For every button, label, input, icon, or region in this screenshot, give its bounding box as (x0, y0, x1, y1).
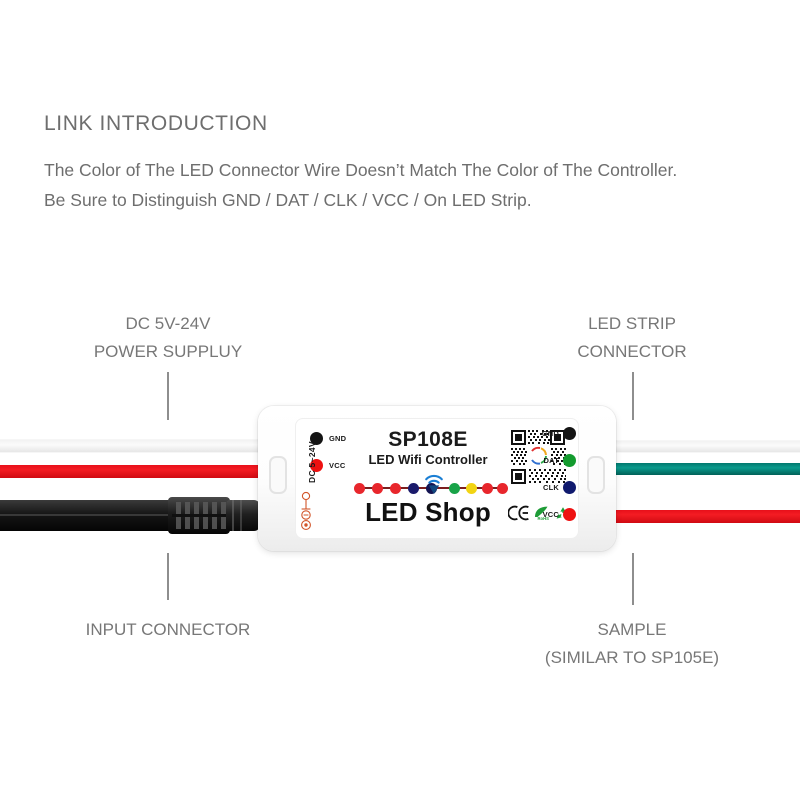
leader-line-led-strip-connector (632, 372, 634, 420)
led-dot-3 (390, 483, 401, 494)
dc-barrel-connector-icon (226, 500, 260, 531)
pad-label-gnd-input: GND (329, 434, 346, 443)
callout-input-connector: INPUT CONNECTOR (42, 616, 294, 644)
dc-grip-ridges (172, 502, 226, 529)
led-dot-2 (372, 483, 383, 494)
callout-led-strip-line-2: CONNECTOR (530, 338, 734, 366)
led-dot-strip-graphic (354, 481, 506, 495)
controller-model-name: SP108E (354, 428, 502, 452)
case-slot-right (587, 456, 605, 494)
led-dot-1 (354, 483, 365, 494)
callout-input-connector-line-1: INPUT CONNECTOR (42, 616, 294, 644)
intro-line-1: The Color of The LED Connector Wire Does… (44, 155, 774, 185)
input-white-wire (0, 440, 284, 452)
controller-label-panel: GND VCC DC 5~24V SP108E LED Wifi (296, 419, 578, 538)
pad-label-clk-output: CLK (543, 483, 559, 492)
output-terminal-group: GND DAT CLK VCC (536, 427, 576, 531)
led-dot-4 (408, 483, 419, 494)
brand-name: LED Shop (348, 497, 508, 528)
led-dot-8 (482, 483, 493, 494)
output-teal-wire (606, 463, 800, 475)
leader-line-input-connector (167, 553, 169, 600)
led-dot-6 (449, 483, 460, 494)
intro-paragraph: The Color of The LED Connector Wire Does… (44, 155, 774, 215)
led-dot-7 (466, 483, 477, 494)
led-dot-9 (497, 483, 508, 494)
callout-sample-line-1: SAMPLE (506, 616, 758, 644)
callout-led-strip-line-1: LED STRIP (530, 310, 734, 338)
output-white-wire (606, 441, 800, 452)
wifi-icon (424, 472, 444, 496)
pad-gnd-output (563, 427, 576, 440)
output-red-wire (606, 510, 800, 523)
pad-vcc-output (563, 508, 576, 521)
callout-power-supply-line-2: POWER SUPPLUY (62, 338, 274, 366)
pad-dat-output (563, 454, 576, 467)
callout-sample-line-2: (SIMILAR TO SP105E) (506, 644, 758, 672)
controller-subtitle: LED Wifi Controller (342, 452, 514, 467)
input-red-wire (0, 465, 284, 478)
case-slot-left (269, 456, 287, 494)
pad-label-vcc-output: VCC (543, 510, 559, 519)
callout-led-strip-connector: LED STRIP CONNECTOR (530, 310, 734, 366)
dc-connector-grip (168, 497, 230, 534)
dc-power-cable (0, 500, 180, 531)
callout-power-supply: DC 5V-24V POWER SUPPLUY (62, 310, 274, 366)
pad-clk-output (563, 481, 576, 494)
pad-label-dat-output: DAT (544, 456, 559, 465)
dc-voltage-rating: DC 5~24V (307, 441, 317, 483)
ce-mark-icon (508, 505, 530, 526)
leader-line-power-supply (167, 372, 169, 420)
pad-label-gnd-output: GND (542, 429, 559, 438)
callout-power-supply-line-1: DC 5V-24V (62, 310, 274, 338)
sp108e-controller: GND VCC DC 5~24V SP108E LED Wifi (258, 406, 616, 551)
product-diagram-page: LINK INTRODUCTION The Color of The LED C… (0, 0, 800, 800)
polarity-symbol-icon (299, 491, 313, 531)
leader-line-sample (632, 553, 634, 605)
callout-sample: SAMPLE (SIMILAR TO SP105E) (506, 616, 758, 672)
intro-line-2: Be Sure to Distinguish GND / DAT / CLK /… (44, 185, 774, 215)
page-title: LINK INTRODUCTION (44, 112, 268, 136)
